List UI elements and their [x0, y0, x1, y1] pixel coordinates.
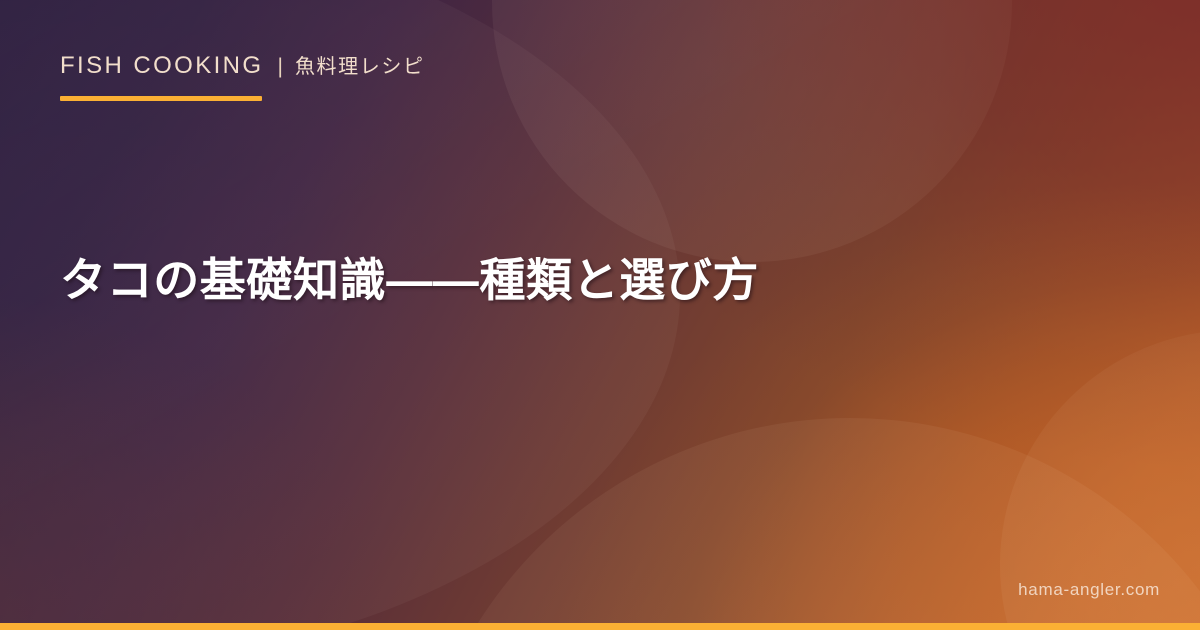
eyebrow-underline-rule [60, 96, 262, 101]
category-eyebrow: FISH COOKING | 魚料理レシピ [60, 54, 425, 78]
eyebrow-label-en: FISH COOKING [60, 54, 263, 78]
og-image-card: FISH COOKING | 魚料理レシピ タコの基礎知識——種類と選び方 ha… [0, 0, 1200, 630]
eyebrow-row: FISH COOKING | 魚料理レシピ [60, 54, 425, 78]
site-url-label: hama-angler.com [1018, 580, 1160, 600]
page-title: タコの基礎知識——種類と選び方 [60, 250, 1120, 312]
eyebrow-label-ja: 魚料理レシピ [295, 57, 425, 77]
eyebrow-separator: | [277, 56, 282, 77]
bottom-accent-rule [0, 623, 1200, 630]
card-content: FISH COOKING | 魚料理レシピ タコの基礎知識——種類と選び方 ha… [0, 0, 1200, 630]
